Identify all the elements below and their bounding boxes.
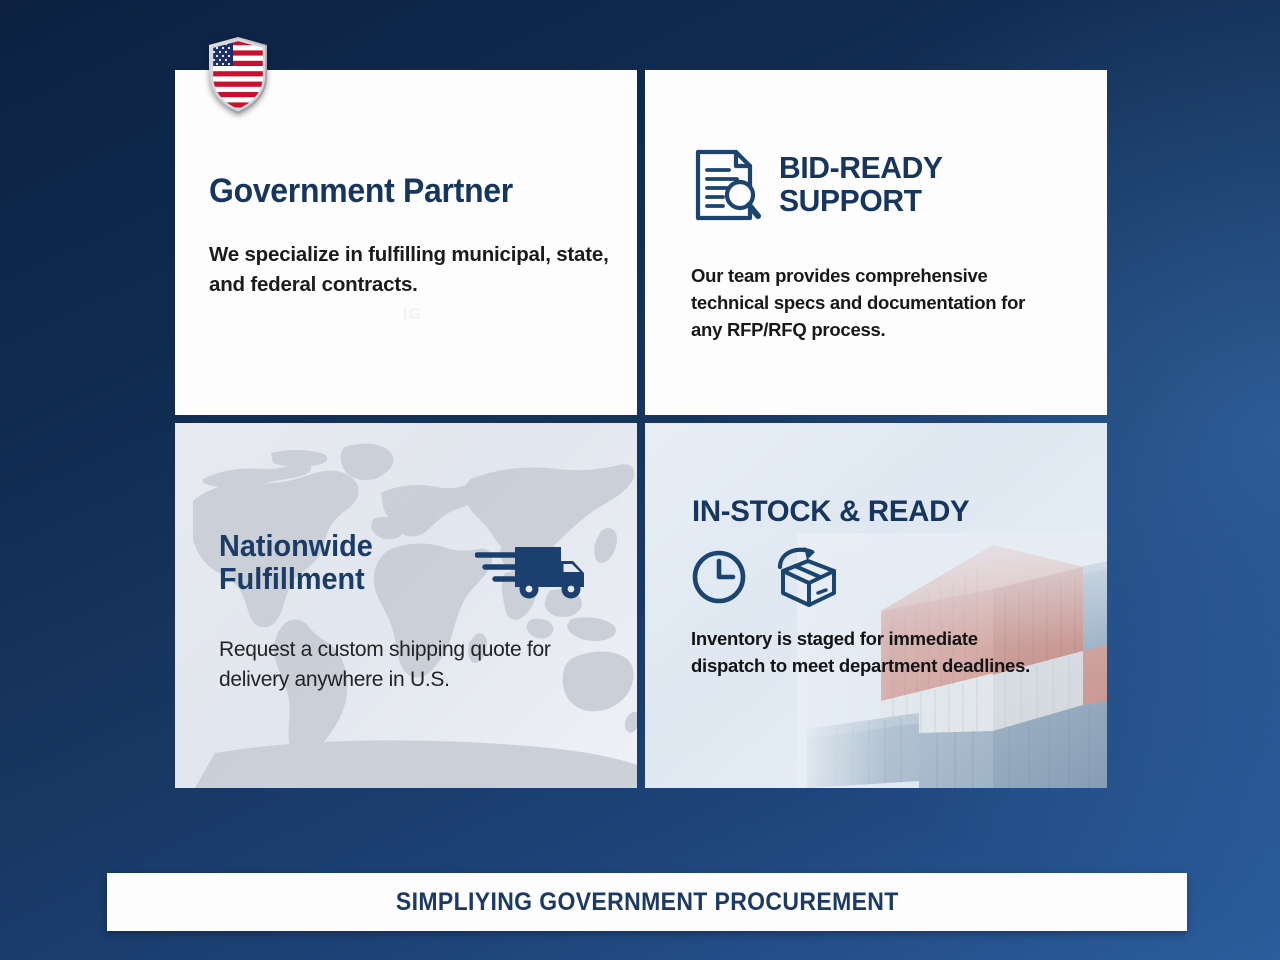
- card-body: We specialize in fulfilling municipal, s…: [209, 240, 613, 299]
- card-icon-row: [690, 545, 840, 607]
- card-title-line-2: Fulfillment: [219, 563, 373, 596]
- feature-card-grid: Government Partner We specialize in fulf…: [175, 70, 1105, 788]
- card-title: Government Partner: [209, 172, 513, 211]
- card-title-line-2: SUPPORT: [779, 185, 943, 218]
- bottom-banner: SIMPLIYING GOVERNMENT PROCUREMENT: [107, 873, 1187, 931]
- card-government-partner[interactable]: Government Partner We specialize in fulf…: [175, 70, 637, 415]
- clock-icon: [690, 546, 750, 606]
- card-in-stock-ready[interactable]: IN-STOCK & READY Inventory is staged for…: [645, 423, 1107, 788]
- card-header: BID-READY SUPPORT: [693, 148, 948, 222]
- card-body: Inventory is staged for immediate dispat…: [691, 625, 1031, 679]
- card-bid-ready-support[interactable]: BID-READY SUPPORT Our team provides comp…: [645, 70, 1107, 415]
- card-title-line-1: Nationwide: [219, 530, 373, 563]
- watermark-text: IG: [403, 306, 422, 324]
- banner-text: SIMPLIYING GOVERNMENT PROCUREMENT: [396, 888, 899, 917]
- card-title: Nationwide Fulfillment: [219, 530, 373, 596]
- card-nationwide-fulfillment[interactable]: Nationwide Fulfillment Request a custom …: [175, 423, 637, 788]
- delivery-truck-icon: [475, 541, 587, 601]
- document-search-icon: [693, 148, 761, 222]
- world-map-background: [175, 423, 637, 788]
- us-flag-shield-icon: [207, 36, 269, 114]
- card-body: Request a custom shipping quote for deli…: [219, 635, 619, 695]
- card-title: IN-STOCK & READY: [692, 495, 969, 529]
- card-title: BID-READY SUPPORT: [779, 152, 943, 218]
- card-body: Our team provides comprehensive technica…: [691, 262, 1057, 343]
- package-refresh-icon: [774, 545, 840, 607]
- card-title-line-1: BID-READY: [779, 152, 943, 185]
